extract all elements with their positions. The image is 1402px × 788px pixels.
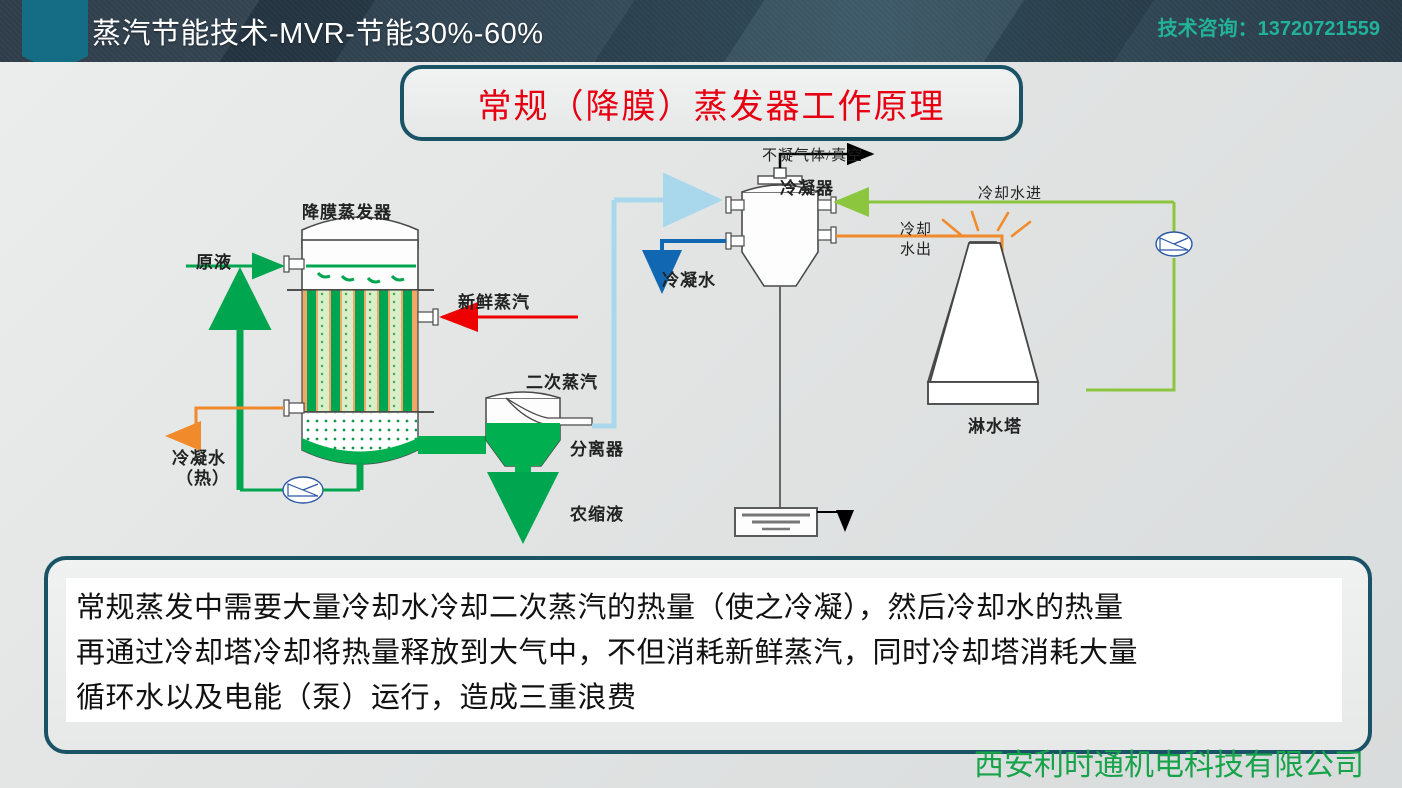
slide-canvas: 蒸汽节能技术-MVR-节能30%-60% 技术咨询：13720721559 常规… bbox=[0, 0, 1402, 788]
label-evaporator: 降膜蒸发器 bbox=[302, 198, 392, 223]
label-feed: 原液 bbox=[196, 248, 232, 273]
header-title: 蒸汽节能技术-MVR-节能30%-60% bbox=[92, 10, 544, 52]
description-inner: 常规蒸发中需要大量冷却水冷却二次蒸汽的热量（使之冷凝），然后冷却水的热量 再通过… bbox=[66, 578, 1342, 722]
label-cooling-tower: 淋水塔 bbox=[968, 412, 1022, 437]
label-condensate: 冷凝水 bbox=[662, 266, 716, 291]
header-ribbon bbox=[22, 0, 88, 62]
header-bar: 蒸汽节能技术-MVR-节能30%-60% 技术咨询：13720721559 bbox=[0, 0, 1402, 62]
label-cooling-water-out-1: 冷却 bbox=[900, 218, 932, 239]
description-line-1: 常规蒸发中需要大量冷却水冷却二次蒸汽的热量（使之冷凝），然后冷却水的热量 bbox=[76, 586, 1332, 631]
label-cooling-water-out-2: 水出 bbox=[900, 238, 932, 259]
label-concentrate: 农缩液 bbox=[570, 500, 624, 525]
label-condenser: 冷凝器 bbox=[780, 174, 834, 199]
label-separator: 分离器 bbox=[570, 435, 624, 460]
label-cooling-water-in: 冷却水进 bbox=[978, 182, 1042, 203]
tube-stripes bbox=[307, 290, 412, 412]
header-contact: 技术咨询：13720721559 bbox=[1158, 12, 1380, 41]
description-line-2: 再通过冷却塔冷却将热量释放到大气中，不但消耗新鲜蒸汽，同时冷却塔消耗大量 bbox=[76, 631, 1332, 676]
page-title-box: 常规（降膜）蒸发器工作原理 bbox=[400, 65, 1023, 141]
description-box: 常规蒸发中需要大量冷却水冷却二次蒸汽的热量（使之冷凝），然后冷却水的热量 再通过… bbox=[44, 556, 1372, 754]
label-fresh-steam: 新鲜蒸汽 bbox=[458, 288, 530, 313]
label-noncondensable: 不凝气体/真空 bbox=[762, 144, 863, 165]
page-title: 常规（降膜）蒸发器工作原理 bbox=[478, 79, 946, 128]
process-diagram: 降膜蒸发器 原液 新鲜蒸汽 冷凝水 （热） 二次蒸汽 分离器 农缩液 不凝气体/… bbox=[0, 140, 1402, 550]
label-condensate-hot-2: （热） bbox=[176, 464, 230, 489]
description-line-3: 循环水以及电能（泵）运行，造成三重浪费 bbox=[76, 676, 1332, 721]
footer-company: 西安利时通机电科技有限公司 bbox=[974, 740, 1364, 784]
label-secondary-steam: 二次蒸汽 bbox=[526, 368, 598, 393]
